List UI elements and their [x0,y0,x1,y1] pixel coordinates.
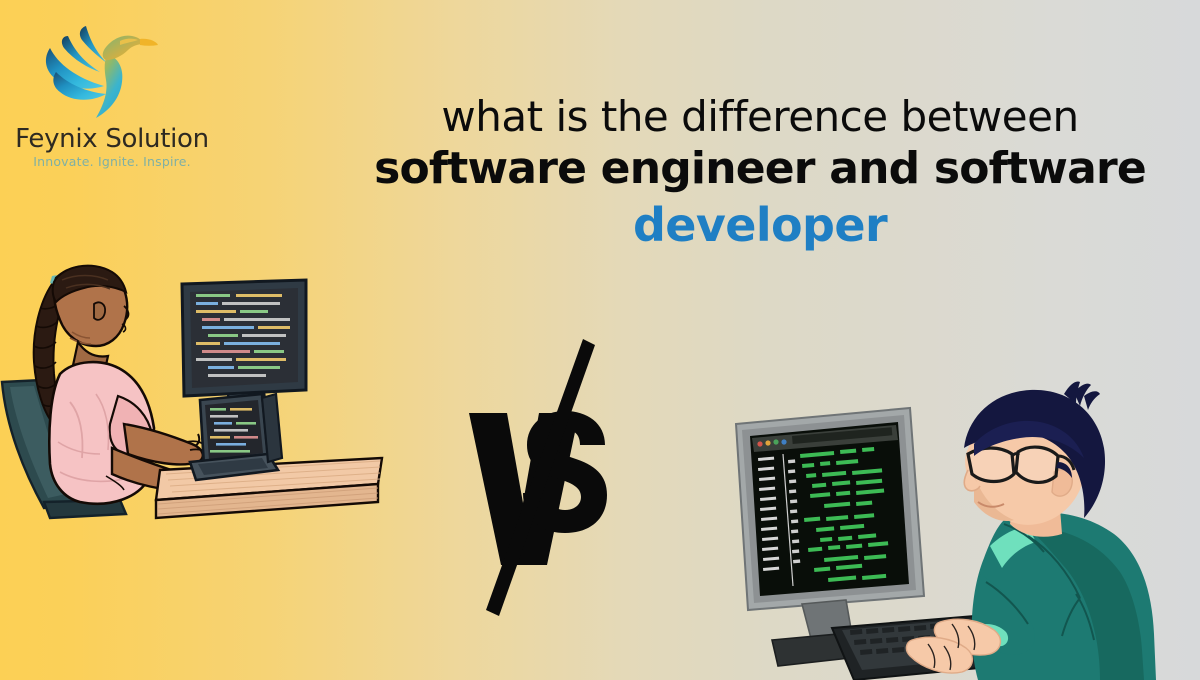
banner-canvas: Feynix Solution Innovate. Ignite. Inspir… [0,0,1200,680]
brand-logo: Feynix Solution Innovate. Ignite. Inspir… [12,14,212,174]
woman-developer-at-desk-illustration [0,262,400,562]
versus-badge: VS [455,335,625,620]
desktop-monitor-left [182,280,306,410]
brand-tagline: Innovate. Ignite. Inspire. [12,154,212,169]
brand-name: Feynix Solution [12,124,212,154]
page-title: what is the difference between software … [330,96,1190,248]
man-developer-at-monitor-illustration [728,378,1158,680]
headline-line-3: developer [330,202,1190,248]
headline-line-1: what is the difference between [330,96,1190,138]
versus-graphic [455,335,625,620]
laptop-left [190,394,282,480]
phoenix-bird-logo-icon [34,14,179,124]
headline-line-2: software engineer and software [330,147,1190,191]
